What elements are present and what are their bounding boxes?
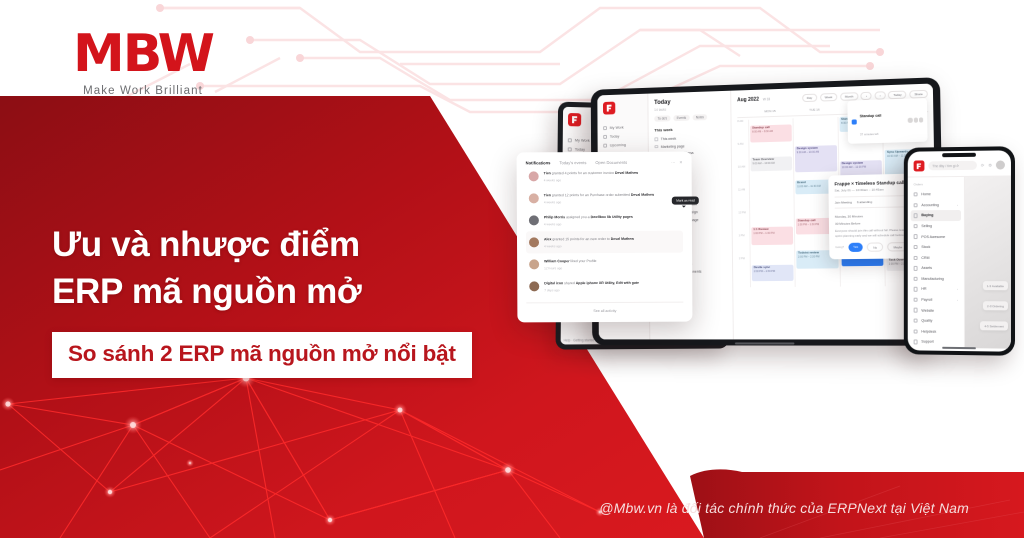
banner-canvas: MBW Make Work Brilliant Ưu và nhược điểm… — [0, 0, 1024, 538]
subtitle-box: So sánh 2 ERP mã nguồn mở nổi bật — [52, 332, 472, 378]
headline-block: Ưu và nhược điểm ERP mã nguồn mở So sánh… — [52, 222, 492, 378]
subtitle-text: So sánh 2 ERP mã nguồn mở nổi bật — [68, 341, 456, 367]
footer-tagline: @Mbw.vn là đối tác chính thức của ERPNex… — [599, 500, 969, 516]
headline-line-2: ERP mã nguồn mở — [52, 269, 492, 316]
logo-wordmark: MBW — [58, 28, 228, 80]
logo-tagline: Make Work Brilliant — [58, 85, 228, 97]
brand-logo: MBW Make Work Brilliant — [58, 28, 228, 97]
headline-line-1: Ưu và nhược điểm — [52, 222, 492, 269]
